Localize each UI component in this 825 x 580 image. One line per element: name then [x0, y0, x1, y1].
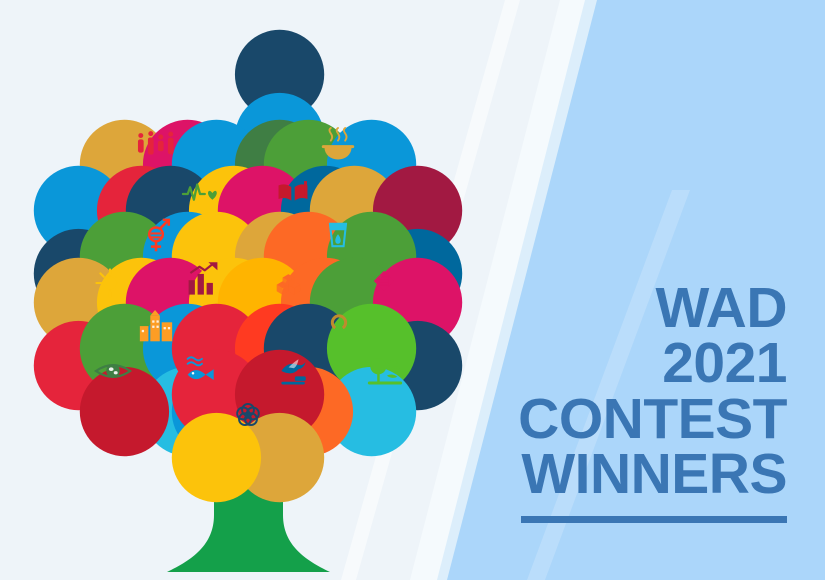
poster-canvas: No PovertyZero HungerGood Health and Wel… — [0, 0, 825, 580]
reduced-inequalities-icon: Reduced Inequalities — [363, 261, 405, 300]
title-line-3: CONTEST — [457, 392, 787, 447]
quality-education-book-icon: Quality Education — [272, 173, 314, 212]
title-line-1: WAD — [457, 281, 787, 336]
climate-action-eye-globe-icon: Climate Action — [91, 350, 136, 392]
partnerships-circles-icon: Partnerships for the Goals — [227, 395, 269, 434]
sustainable-cities-icon: Sustainable Cities and Communities — [132, 306, 179, 350]
title-line-2: 2021 — [457, 336, 787, 391]
no-poverty-family-icon: No Poverty — [132, 124, 179, 168]
life-below-water-fish-icon: Life Below Water — [180, 350, 225, 392]
tree-foliage — [15, 11, 480, 520]
good-health-heartbeat-icon: Good Health and Well-being — [177, 172, 224, 216]
title-line-4: WINNERS — [457, 447, 787, 502]
industry-innovation-cubes-icon: Industry, Innovation, Infrastructure — [270, 262, 315, 304]
affordable-energy-sun-icon: Affordable and Clean Energy — [90, 264, 130, 301]
clean-water-glass-icon: Clean Water and Sanitation — [318, 216, 358, 253]
gender-equality-icon: Gender Equality — [135, 216, 177, 255]
title-underline-bar — [521, 516, 787, 523]
peace-justice-dove-icon: Peace, Justice, Strong Institutions — [272, 350, 317, 392]
decent-work-growth-chart-icon: Decent Work and Economic Growth — [181, 261, 226, 303]
life-on-land-tree-icon: Life on Land — [361, 349, 408, 393]
zero-hunger-bowl-icon: Zero Hunger — [316, 125, 361, 167]
responsible-consumption-icon: Responsible Consumption — [315, 306, 362, 350]
poster-title-block: WAD 2021 CONTEST WINNERS — [457, 281, 787, 523]
